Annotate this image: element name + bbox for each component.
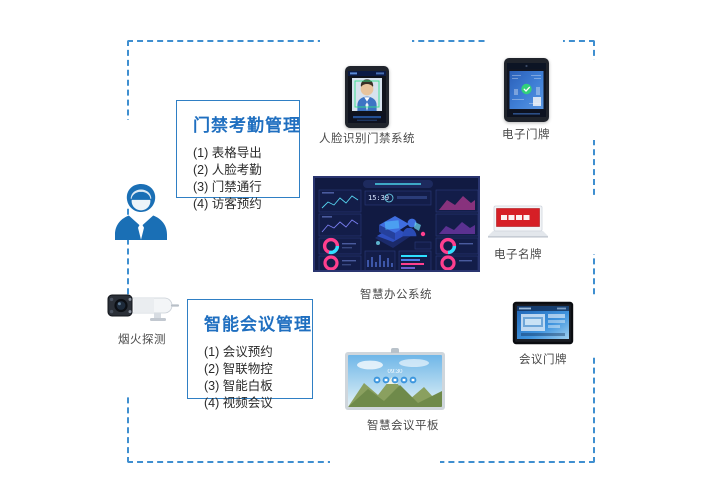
smart-office-system-device[interactable]: 15:39 xyxy=(313,176,480,272)
smart-office-system-label: 智慧办公系统 xyxy=(331,286,461,302)
frame-mask-top-b xyxy=(485,37,563,43)
list-item: (4) 访客预约 xyxy=(193,196,285,213)
frame-mask-right-mid xyxy=(592,196,598,254)
tablet-camera-icon xyxy=(391,348,399,353)
electronic-door-sign-device[interactable] xyxy=(504,58,549,122)
frame-mask-right-top xyxy=(592,60,598,140)
card-smart-meeting-title: 智能会议管理 xyxy=(204,310,298,335)
list-item: (3) 智能白板 xyxy=(204,378,298,395)
fire-smoke-detection-label: 烟火探测 xyxy=(94,331,190,347)
list-item: (2) 智联物控 xyxy=(204,361,298,378)
meeting-room-sign-device[interactable] xyxy=(511,300,575,346)
frame-mask-top-a xyxy=(320,37,412,43)
admin-user-avatar xyxy=(110,178,172,244)
list-item: (1) 会议预约 xyxy=(204,344,298,361)
list-item: (2) 人脸考勤 xyxy=(193,162,285,179)
electronic-nameplate-device[interactable] xyxy=(487,204,549,238)
card-smart-meeting-list: (1) 会议预约 (2) 智联物控 (3) 智能白板 (4) 视频会议 xyxy=(204,344,298,412)
list-item: (4) 视频会议 xyxy=(204,395,298,412)
face-access-terminal-label: 人脸识别门禁系统 xyxy=(302,130,432,146)
smart-meeting-tablet-screen: 09:30 xyxy=(348,355,442,407)
card-access-attendance-title: 门禁考勤管理 xyxy=(193,111,285,136)
svg-text:09:30: 09:30 xyxy=(387,369,403,375)
list-item: (3) 门禁通行 xyxy=(193,179,285,196)
meeting-room-sign-label: 会议门牌 xyxy=(493,351,593,367)
list-item: (1) 表格导出 xyxy=(193,145,285,162)
smart-meeting-tablet-label: 智慧会议平板 xyxy=(338,417,468,433)
electronic-door-sign-label: 电子门牌 xyxy=(466,126,586,142)
fire-smoke-detection-device[interactable] xyxy=(104,290,180,324)
electronic-nameplate-label: 电子名牌 xyxy=(468,246,568,262)
card-access-attendance-list: (1) 表格导出 (2) 人脸考勤 (3) 门禁通行 (4) 访客预约 xyxy=(193,145,285,213)
electronic-door-sign-screen xyxy=(507,63,546,117)
frame-mask-right-bottom xyxy=(592,296,598,354)
frame-mask-bottom xyxy=(330,460,440,466)
face-access-terminal-device[interactable] xyxy=(345,66,389,128)
diagram-canvas: 门禁考勤管理 (1) 表格导出 (2) 人脸考勤 (3) 门禁通行 (4) 访客… xyxy=(0,0,702,500)
face-access-terminal-screen xyxy=(348,71,386,123)
smart-meeting-tablet-device[interactable]: 09:30 xyxy=(345,352,445,410)
frame-mask-left-bottom xyxy=(126,316,131,396)
card-smart-meeting[interactable]: 智能会议管理 (1) 会议预约 (2) 智联物控 (3) 智能白板 (4) 视频… xyxy=(187,299,313,399)
card-access-attendance[interactable]: 门禁考勤管理 (1) 表格导出 (2) 人脸考勤 (3) 门禁通行 (4) 访客… xyxy=(176,100,300,198)
